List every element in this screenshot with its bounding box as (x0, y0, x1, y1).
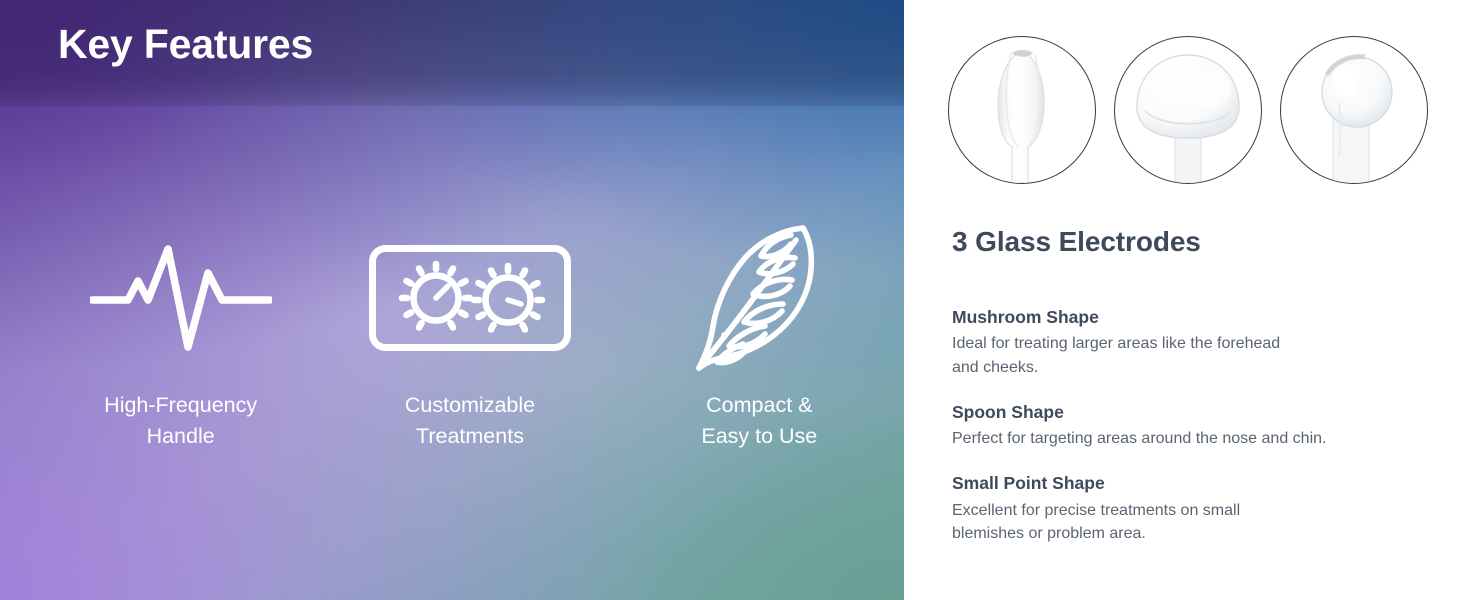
feature-label: High-Frequency Handle (104, 390, 257, 452)
shape-description: Excellent for precise treatments on smal… (952, 499, 1452, 545)
small-point-electrode-photo (1280, 36, 1428, 184)
right-info-panel: 3 Glass Electrodes Mushroom Shape Ideal … (904, 0, 1464, 600)
left-gradient-panel: Key Features High-Frequency Handle (0, 0, 904, 600)
shape-description: Ideal for treating larger areas like the… (952, 332, 1452, 378)
waveform-icon (90, 228, 272, 368)
feature-label: Customizable Treatments (405, 390, 535, 452)
control-panel-dials-icon (368, 228, 572, 368)
glass-electrodes-heading: 3 Glass Electrodes (952, 226, 1201, 258)
shape-name: Mushroom Shape (952, 305, 1452, 330)
feather-icon (691, 228, 827, 368)
mushroom-electrode-photo (948, 36, 1096, 184)
key-features-banner: Key Features High-Frequency Handle (0, 0, 1464, 600)
shape-item-spoon: Spoon Shape Perfect for targeting areas … (952, 400, 1452, 451)
feature-list: High-Frequency Handle (0, 228, 904, 452)
electrode-shape-list: Mushroom Shape Ideal for treating larger… (952, 305, 1452, 545)
feature-item-compact-easy-to-use: Compact & Easy to Use (615, 228, 904, 452)
shape-item-small-point: Small Point Shape Excellent for precise … (952, 471, 1452, 545)
spoon-electrode-photo (1114, 36, 1262, 184)
page-title: Key Features (58, 22, 313, 67)
feature-item-customizable-treatments: Customizable Treatments (325, 228, 614, 452)
feature-item-high-frequency-handle: High-Frequency Handle (36, 228, 325, 452)
electrode-photo-row (948, 36, 1428, 184)
shape-description: Perfect for targeting areas around the n… (952, 427, 1452, 450)
shape-name: Small Point Shape (952, 471, 1452, 496)
shape-name: Spoon Shape (952, 400, 1452, 425)
feature-label: Compact & Easy to Use (701, 390, 817, 452)
shape-item-mushroom: Mushroom Shape Ideal for treating larger… (952, 305, 1452, 379)
